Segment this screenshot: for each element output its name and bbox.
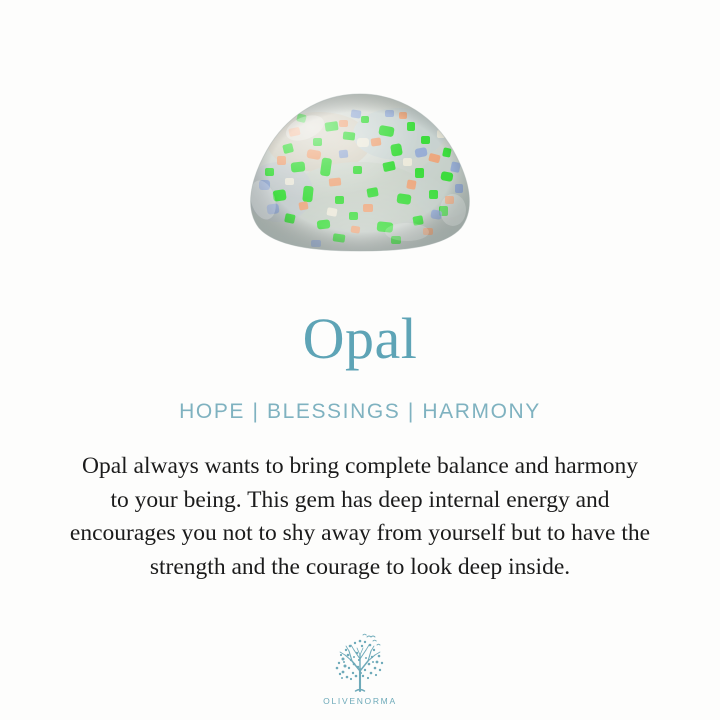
description-line-3: encourages you not to shy away from your… — [26, 517, 694, 551]
brand-name: OLIVENORMA — [323, 696, 397, 706]
tree-of-life-logo-icon — [327, 629, 393, 695]
brand-logo: OLIVENORMA — [0, 629, 720, 706]
description-paragraph: Opal always wants to bring complete bala… — [26, 450, 694, 584]
gemstone-info-card: Opal HOPE | BLESSINGS | HARMONY Opal alw… — [0, 0, 720, 720]
description-line-4: strength and the courage to look deep in… — [26, 551, 694, 585]
opal-cabochon-gemstone — [239, 92, 481, 252]
gemstone-image-area — [0, 0, 720, 262]
page-title: Opal — [303, 310, 418, 368]
keywords-subtitle: HOPE | BLESSINGS | HARMONY — [179, 400, 541, 424]
description-line-1: Opal always wants to bring complete bala… — [26, 450, 694, 484]
description-line-2: to your being. This gem has deep interna… — [26, 484, 694, 518]
